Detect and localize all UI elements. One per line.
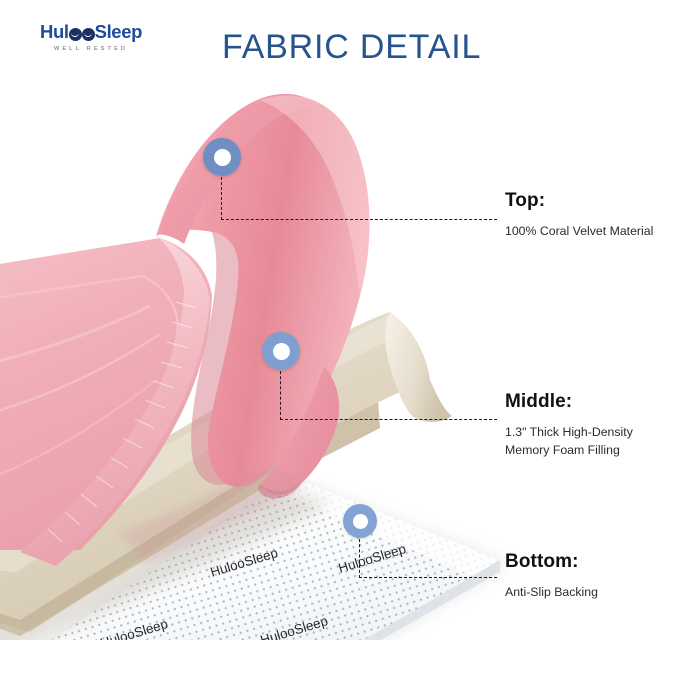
callout-bottom: Bottom: Anti-Slip Backing — [505, 551, 673, 602]
logo-tagline: WELL RESTED — [26, 46, 156, 52]
sleeping-eye-icon-right — [82, 28, 95, 41]
page-title: FABRIC DETAIL — [222, 28, 481, 67]
callout-top-body: 100% Coral Velvet Material — [505, 223, 673, 241]
callout-top: Top: 100% Coral Velvet Material — [505, 190, 673, 241]
callout-middle: Middle: 1.3" Thick High-Density Memory F… — [505, 391, 673, 460]
callout-middle-body: 1.3" Thick High-Density Memory Foam Fill… — [505, 424, 673, 460]
logo-text-part1: Hul — [40, 23, 69, 42]
callout-bottom-title: Bottom: — [505, 551, 673, 573]
fabric-detail-infographic: Hul Sleep WELL RESTED FABRIC DETAIL — [0, 0, 679, 679]
marker-center-dot — [273, 343, 290, 360]
callout-bottom-body: Anti-Slip Backing — [505, 584, 673, 602]
callout-marker-top[interactable] — [203, 138, 241, 176]
product-illustration: HulooSleep HulooSleep HulooSleep HulooSl… — [0, 80, 520, 640]
callout-middle-title: Middle: — [505, 391, 673, 413]
marker-center-dot — [214, 149, 231, 166]
sleeping-eye-icon-left — [69, 28, 82, 41]
logo-wordmark: Hul Sleep — [26, 22, 156, 42]
brand-logo: Hul Sleep WELL RESTED — [26, 22, 156, 56]
callout-top-title: Top: — [505, 190, 673, 212]
callout-marker-bottom[interactable] — [343, 504, 377, 538]
marker-center-dot — [353, 514, 368, 529]
logo-text-part2: Sleep — [95, 23, 142, 42]
callout-marker-middle[interactable] — [262, 332, 300, 370]
